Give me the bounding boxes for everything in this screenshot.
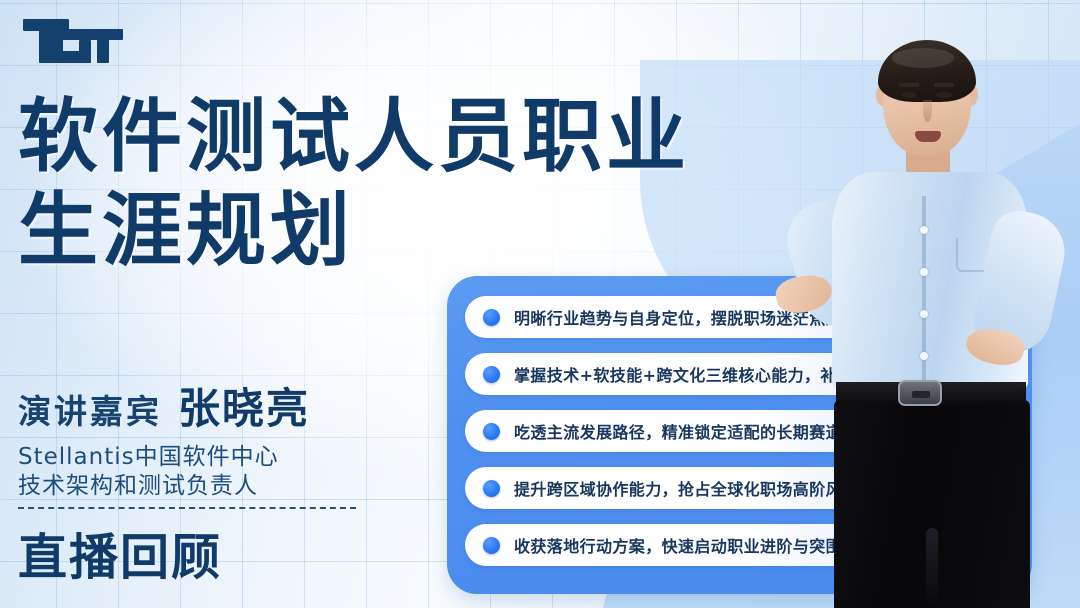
bullet-dot-icon <box>483 366 500 383</box>
replay-label: 直播回顾 <box>18 518 438 589</box>
right-eyebrow <box>934 83 954 87</box>
speaker-label: 演讲嘉宾 <box>18 385 162 433</box>
hair <box>878 40 976 102</box>
poster-canvas: 软件测试人员职业 生涯规划 演讲嘉宾 张晓亮 Stellantis中国软件中心 … <box>0 0 1080 608</box>
mouth <box>915 131 941 142</box>
left-eyebrow <box>899 83 919 87</box>
speaker-organization: Stellantis中国软件中心 <box>18 443 438 472</box>
speaker-name: 张晓亮 <box>178 375 310 436</box>
title-line-1: 软件测试人员职业 <box>18 90 848 184</box>
speaker-name-row: 演讲嘉宾 张晓亮 <box>18 375 438 436</box>
bullet-dot-icon <box>483 537 500 554</box>
right-eye <box>936 92 952 98</box>
dashed-divider <box>18 507 356 509</box>
bullet-dot-icon <box>483 423 500 440</box>
shirt-button <box>920 226 928 234</box>
left-eye <box>901 92 917 98</box>
trousers <box>834 400 1030 608</box>
shirt-button <box>920 352 928 360</box>
title-line-2: 生涯规划 <box>18 184 848 278</box>
belt-buckle <box>898 380 942 406</box>
page-title: 软件测试人员职业 生涯规划 <box>18 90 848 278</box>
bullet-dot-icon <box>483 309 500 326</box>
speaker-photo <box>770 0 1080 608</box>
nose <box>923 100 932 122</box>
speaker-role: 技术架构和测试负责人 <box>18 472 438 501</box>
shirt-button <box>920 268 928 276</box>
bullet-dot-icon <box>483 480 500 497</box>
speaker-block: 演讲嘉宾 张晓亮 Stellantis中国软件中心 技术架构和测试负责人 直播回… <box>18 375 438 589</box>
tst-logo <box>21 17 125 67</box>
shirt-button <box>920 310 928 318</box>
